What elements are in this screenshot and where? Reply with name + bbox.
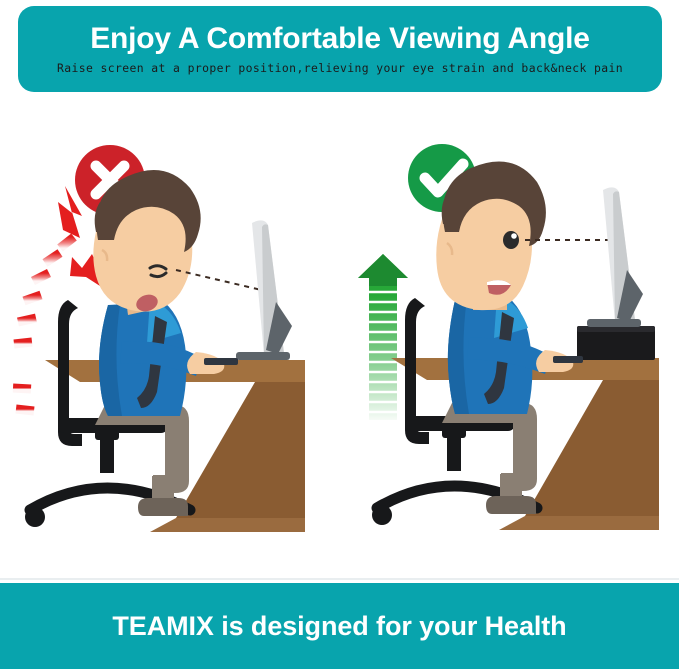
gaze-line — [176, 270, 270, 292]
monitor-riser — [577, 326, 655, 360]
keyboard — [553, 356, 583, 363]
infographic-page: Enjoy A Comfortable Viewing Angle Raise … — [0, 0, 679, 669]
monitor — [587, 187, 643, 327]
head — [93, 170, 200, 315]
monitor — [236, 220, 292, 360]
incorrect-posture-illustration — [0, 120, 340, 580]
up-arrow-icon — [358, 254, 408, 420]
panel-correct-posture — [339, 120, 679, 580]
header-banner: Enjoy A Comfortable Viewing Angle Raise … — [18, 6, 662, 92]
keyboard — [204, 358, 238, 365]
footer-text: TEAMIX is designed for your Health — [112, 611, 566, 642]
correct-posture-illustration — [339, 120, 679, 580]
panel-incorrect-posture — [0, 120, 340, 580]
divider — [0, 578, 679, 580]
header-subtitle: Raise screen at a proper position,reliev… — [57, 61, 623, 75]
head — [436, 162, 546, 311]
header-title: Enjoy A Comfortable Viewing Angle — [90, 23, 590, 55]
eye-open-icon — [503, 231, 519, 249]
footer-banner: TEAMIX is designed for your Health — [0, 583, 679, 669]
